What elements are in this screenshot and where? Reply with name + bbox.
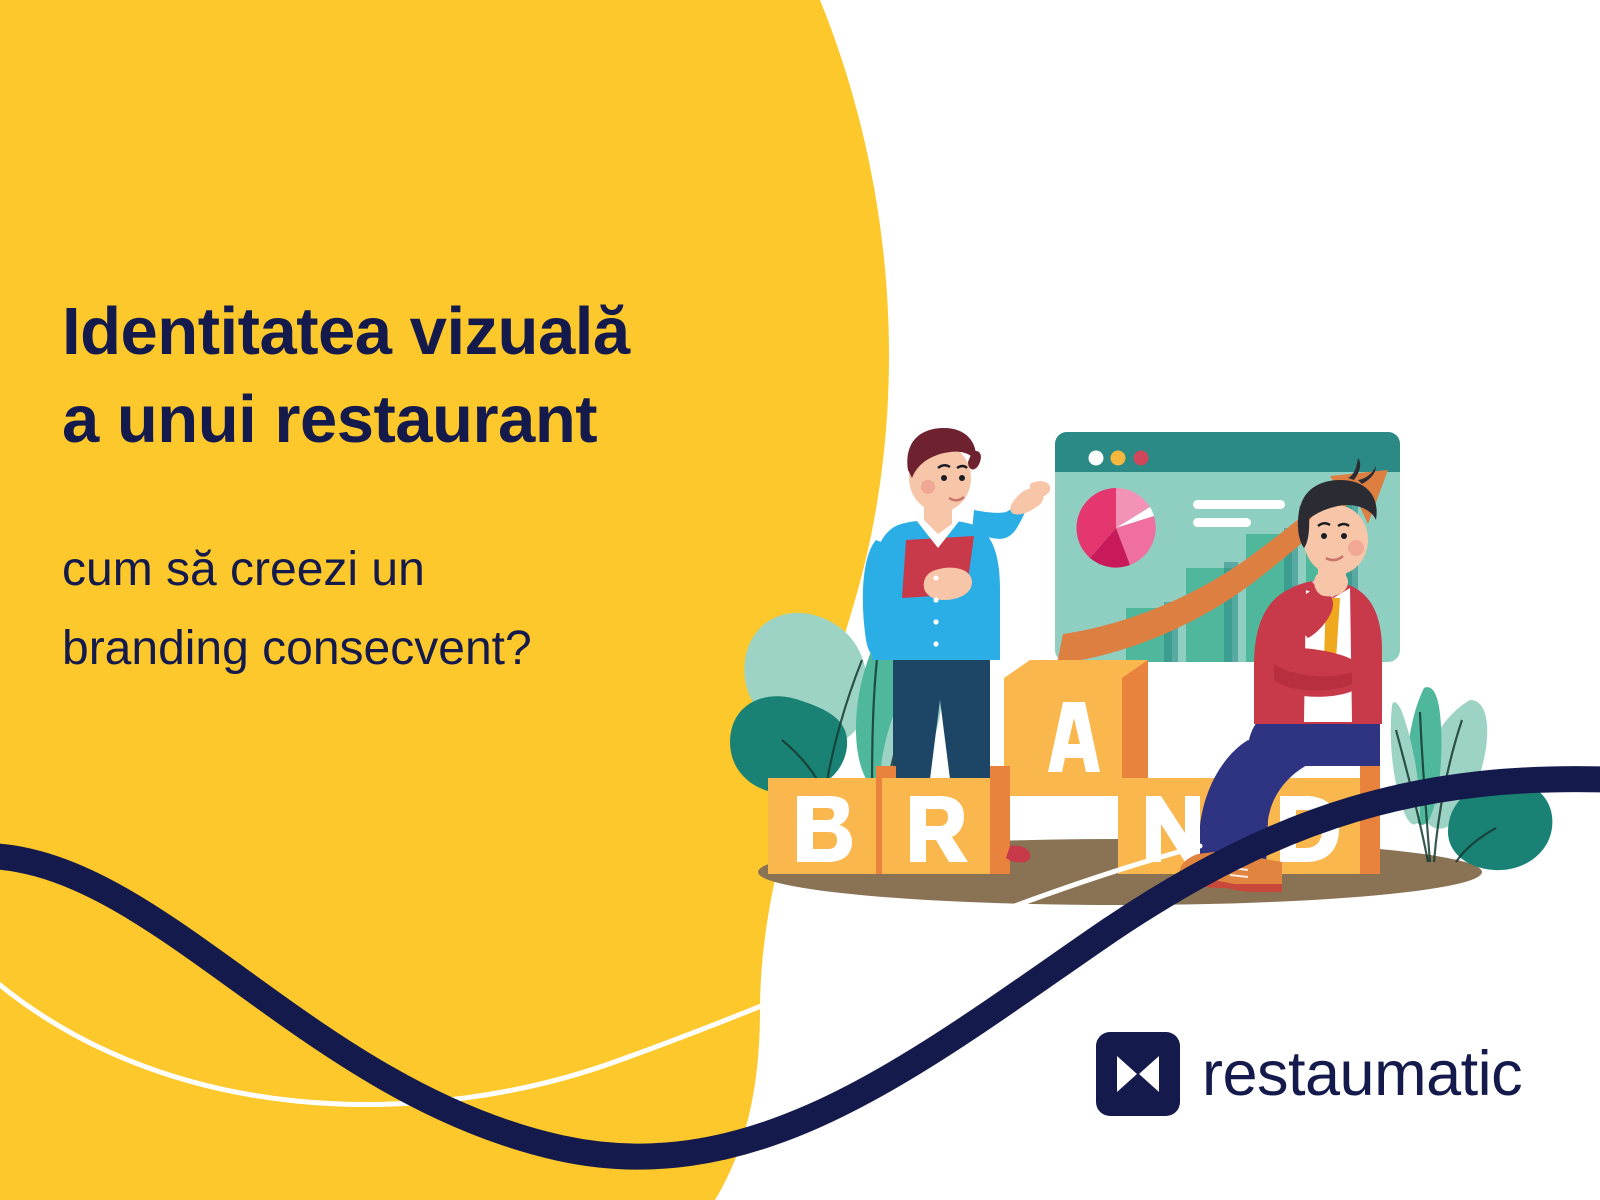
brand-wordmark: restaumatic xyxy=(1202,1043,1522,1106)
block-A xyxy=(1004,660,1148,796)
pie-chart xyxy=(1076,488,1155,568)
poster-canvas: Identitatea vizuală a unui restaurant cu… xyxy=(0,0,1600,1200)
block-B xyxy=(768,766,896,874)
block-R xyxy=(882,766,1010,874)
browser-dot-red xyxy=(1134,451,1149,466)
subhead-line-2: branding consecvent? xyxy=(62,609,822,688)
page-subtitle: cum să creezi un branding consecvent? xyxy=(62,530,822,688)
browser-titlebar xyxy=(1055,432,1400,472)
browser-dot-white xyxy=(1089,451,1104,466)
page-title: Identitatea vizuală a unui restaurant xyxy=(62,288,892,465)
headline-line-1: Identitatea vizuală xyxy=(62,288,892,376)
headline-line-2: a unui restaurant xyxy=(62,376,892,464)
browser-dot-yellow xyxy=(1111,451,1126,466)
subhead-line-1: cum să creezi un xyxy=(62,530,822,609)
brand-logo[interactable]: restaumatic xyxy=(1096,1032,1522,1116)
right-plant xyxy=(1391,687,1553,870)
bowtie-icon xyxy=(1096,1032,1180,1116)
